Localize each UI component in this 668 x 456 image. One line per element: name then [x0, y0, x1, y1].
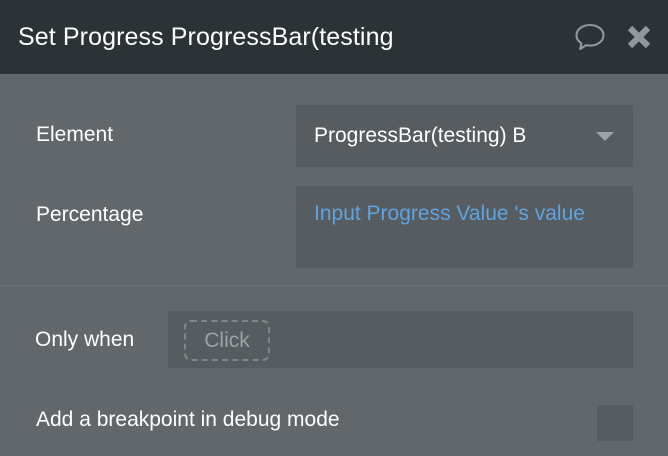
dialog-titlebar: Set Progress ProgressBar(testing [0, 0, 668, 74]
element-dropdown[interactable]: ProgressBar(testing) B [296, 105, 633, 167]
breakpoint-checkbox[interactable] [597, 405, 633, 441]
chevron-down-icon [596, 132, 614, 141]
element-dropdown-value: ProgressBar(testing) B [314, 105, 584, 167]
close-x-icon[interactable] [624, 22, 654, 52]
section-divider [0, 285, 668, 286]
titlebar-actions [574, 0, 654, 74]
breakpoint-label: Add a breakpoint in debug mode [36, 408, 340, 432]
percentage-label: Percentage [36, 203, 143, 227]
only-when-input[interactable]: Click [168, 311, 633, 368]
percentage-input[interactable]: Input Progress Value 's value [296, 186, 633, 268]
only-when-placeholder-chip[interactable]: Click [184, 320, 270, 361]
only-when-label: Only when [35, 328, 134, 352]
set-progress-dialog: Set Progress ProgressBar(testing Element… [0, 0, 668, 456]
percentage-expression-value: Input Progress Value 's value [314, 197, 594, 230]
dialog-title: Set Progress ProgressBar(testing [18, 0, 538, 74]
element-label: Element [36, 123, 113, 147]
speech-bubble-icon[interactable] [574, 22, 606, 52]
